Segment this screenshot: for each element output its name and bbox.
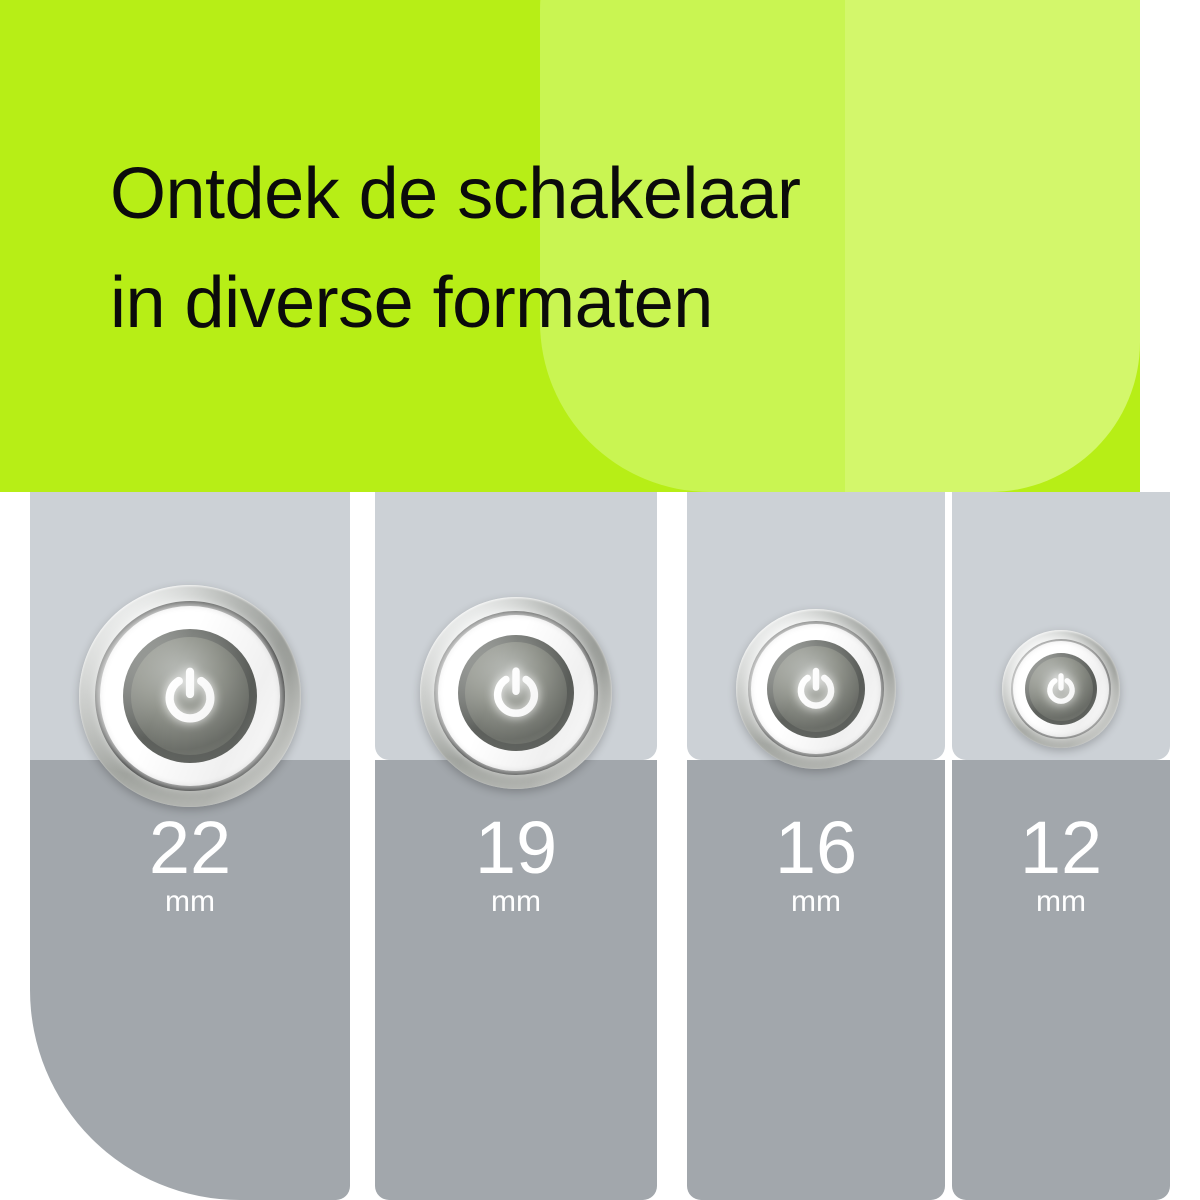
switch-dark-ring xyxy=(95,601,285,791)
product-card-19mm[interactable]: 19 mm xyxy=(375,492,657,1200)
size-unit: mm xyxy=(30,885,350,920)
switch-inner-ring xyxy=(767,640,865,738)
size-label-16mm: 16 mm xyxy=(687,812,945,920)
promo-banner: Ontdek de schakelaar in diverse formaten xyxy=(0,0,1200,1200)
size-value: 12 xyxy=(952,812,1170,883)
switch-face xyxy=(1029,657,1093,721)
product-columns: 22 mm xyxy=(0,492,1200,1200)
size-value: 16 xyxy=(687,812,945,883)
size-value: 19 xyxy=(375,812,657,883)
power-icon xyxy=(488,665,544,721)
switch-dark-ring xyxy=(748,621,884,757)
power-icon xyxy=(793,666,839,712)
switch-16mm-image[interactable] xyxy=(736,609,896,769)
switch-bezel xyxy=(420,597,612,789)
switch-led-ring xyxy=(751,624,881,754)
product-card-22mm[interactable]: 22 mm xyxy=(30,492,350,1200)
switch-12mm-image[interactable] xyxy=(1002,630,1120,748)
switch-bezel xyxy=(736,609,896,769)
size-unit: mm xyxy=(375,885,657,920)
product-card-16mm[interactable]: 16 mm xyxy=(687,492,945,1200)
switch-22mm-image[interactable] xyxy=(79,585,301,807)
switch-inner-ring xyxy=(1025,653,1097,725)
switch-led-ring xyxy=(1013,641,1109,737)
size-label-19mm: 19 mm xyxy=(375,812,657,920)
size-unit: mm xyxy=(952,885,1170,920)
switch-face xyxy=(465,642,567,744)
switch-inner-ring xyxy=(123,629,257,763)
switch-bezel xyxy=(79,585,301,807)
power-icon xyxy=(159,665,221,727)
product-card-12mm[interactable]: 12 mm xyxy=(952,492,1170,1200)
switch-19mm-image[interactable] xyxy=(420,597,612,789)
switch-face xyxy=(773,646,859,732)
switch-led-ring xyxy=(438,615,594,771)
hero-section: Ontdek de schakelaar in diverse formaten xyxy=(0,0,1140,492)
switch-face xyxy=(131,637,249,755)
size-unit: mm xyxy=(687,885,945,920)
switch-dark-ring xyxy=(434,611,598,775)
size-value: 22 xyxy=(30,812,350,883)
switch-inner-ring xyxy=(458,635,574,751)
page-title: Ontdek de schakelaar in diverse formaten xyxy=(110,140,1070,359)
power-icon xyxy=(1044,672,1078,706)
switch-bezel xyxy=(1002,630,1120,748)
size-label-12mm: 12 mm xyxy=(952,812,1170,920)
switch-led-ring xyxy=(100,606,280,786)
size-label-22mm: 22 mm xyxy=(30,812,350,920)
switch-dark-ring xyxy=(1011,639,1111,739)
